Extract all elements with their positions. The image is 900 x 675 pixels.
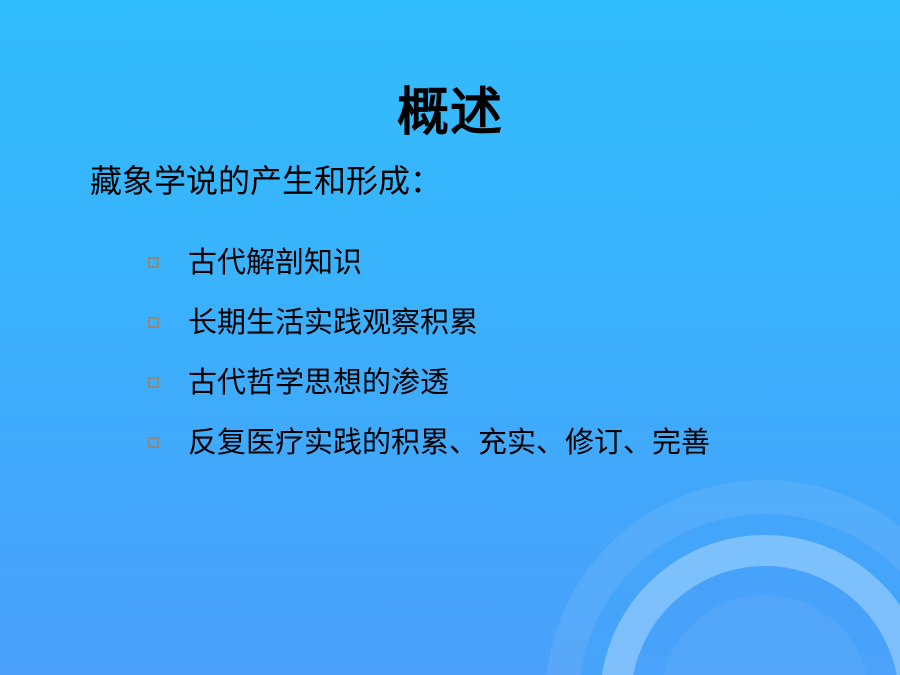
list-item: 古代解剖知识 xyxy=(140,232,710,292)
list-item: 古代哲学思想的渗透 xyxy=(140,352,710,412)
list-item: 长期生活实践观察积累 xyxy=(140,292,710,352)
list-item-label: 长期生活实践观察积累 xyxy=(188,304,710,340)
list-item-label: 古代解剖知识 xyxy=(188,244,710,280)
presentation-slide: 概述 藏象学说的产生和形成： 古代解剖知识 长期生活实践观察积累 古代哲学思想的… xyxy=(0,0,900,675)
list-item-label: 古代哲学思想的渗透 xyxy=(188,364,710,400)
hollow-square-bullet-icon xyxy=(148,257,159,268)
hollow-square-bullet-icon xyxy=(148,377,159,388)
list-item: 反复医疗实践的积累、充实、修订、完善 xyxy=(140,412,710,472)
slide-title: 概述 xyxy=(0,81,900,145)
hollow-square-bullet-icon xyxy=(148,317,159,328)
bullet-list: 古代解剖知识 长期生活实践观察积累 古代哲学思想的渗透 反复医疗实践的积累、充实… xyxy=(140,232,710,472)
slide-content: 概述 藏象学说的产生和形成： 古代解剖知识 长期生活实践观察积累 古代哲学思想的… xyxy=(0,0,900,675)
list-item-label: 反复医疗实践的积累、充实、修订、完善 xyxy=(188,424,710,460)
lead-paragraph: 藏象学说的产生和形成： xyxy=(90,161,442,201)
hollow-square-bullet-icon xyxy=(148,437,159,448)
